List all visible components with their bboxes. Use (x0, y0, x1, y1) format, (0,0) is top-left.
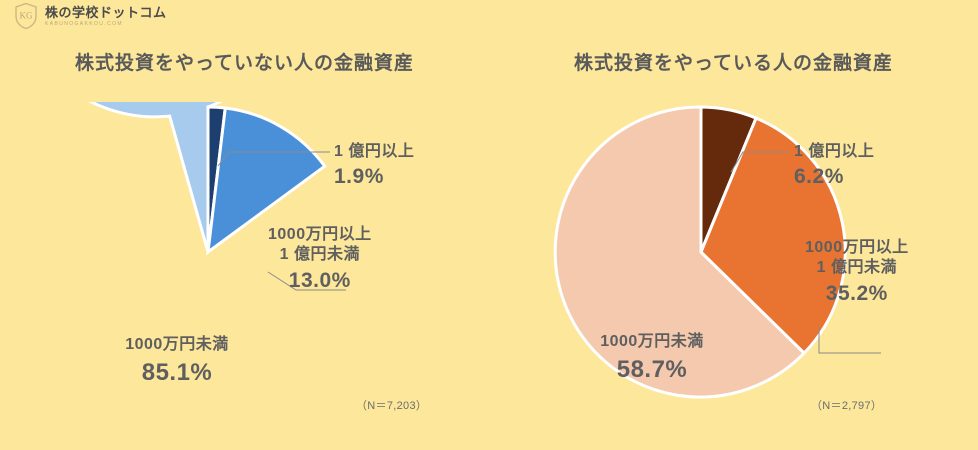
label-right-under-10m-category: 1000万円未満 (537, 332, 767, 353)
label-left-10m-to-100m-category-line2: 1 億円未満 (268, 245, 372, 265)
label-right-over-100m-percent: 6.2% (794, 164, 878, 191)
label-left-under-10m: 1000万円未満 85.1% (62, 335, 292, 388)
sample-size-note-left: （N＝7,203） (356, 397, 427, 413)
label-left-under-10m-category: 1000万円未満 (62, 335, 292, 356)
infographic-page: KG 株の学校ドットコム KABUNOGAKKOU.COM 株式投資をやっていな… (0, 0, 978, 450)
label-left-under-10m-percent: 85.1% (62, 357, 292, 388)
logo-text: 株の学校ドットコム KABUNOGAKKOU.COM (45, 6, 167, 27)
chart-title-left: 株式投資をやっていない人の金融資産 (0, 48, 489, 75)
label-right-10m-to-100m-percent: 35.2% (805, 281, 909, 308)
shield-logo-icon: KG (14, 2, 38, 30)
chart-title-right: 株式投資をやっている人の金融資産 (489, 48, 978, 75)
logo-sub-text: KABUNOGAKKOU.COM (45, 22, 167, 27)
label-left-10m-to-100m-percent: 13.0% (268, 268, 372, 295)
label-right-10m-to-100m: 1000万円以上 1 億円未満 35.2% (805, 238, 909, 308)
label-right-over-100m: 1 億円以上 6.2% (794, 142, 878, 191)
logo-main-text: 株の学校ドットコム (45, 6, 167, 19)
svg-text:KG: KG (20, 11, 33, 21)
label-right-under-10m-percent: 58.7% (537, 354, 767, 385)
label-left-10m-to-100m: 1000万円以上 1 億円未満 13.0% (268, 225, 372, 295)
label-left-over-100m: 1 億円以上 1.9% (334, 142, 420, 191)
sample-size-note-right: （N＝2,797） (811, 397, 882, 413)
label-right-over-100m-category: 1 億円以上 (794, 142, 878, 162)
chart-panel-investors: 株式投資をやっている人の金融資産 1 億円以上 6.2% 1000万円以上 (489, 40, 978, 450)
site-logo[interactable]: KG 株の学校ドットコム KABUNOGAKKOU.COM (14, 2, 167, 30)
label-left-10m-to-100m-category-line1: 1000万円以上 (268, 225, 372, 245)
label-left-over-100m-category: 1 億円以上 (334, 142, 420, 162)
header-bar: KG 株の学校ドットコム KABUNOGAKKOU.COM (0, 0, 978, 32)
label-right-10m-to-100m-category-line1: 1000万円以上 (805, 238, 909, 258)
label-right-under-10m: 1000万円未満 58.7% (537, 332, 767, 385)
chart-panel-non-investors: 株式投資をやっていない人の金融資産 1 億円以上 1.9% 1000万円以上 (0, 40, 489, 450)
label-left-over-100m-percent: 1.9% (334, 164, 420, 191)
label-right-10m-to-100m-category-line2: 1 億円未満 (805, 258, 909, 278)
